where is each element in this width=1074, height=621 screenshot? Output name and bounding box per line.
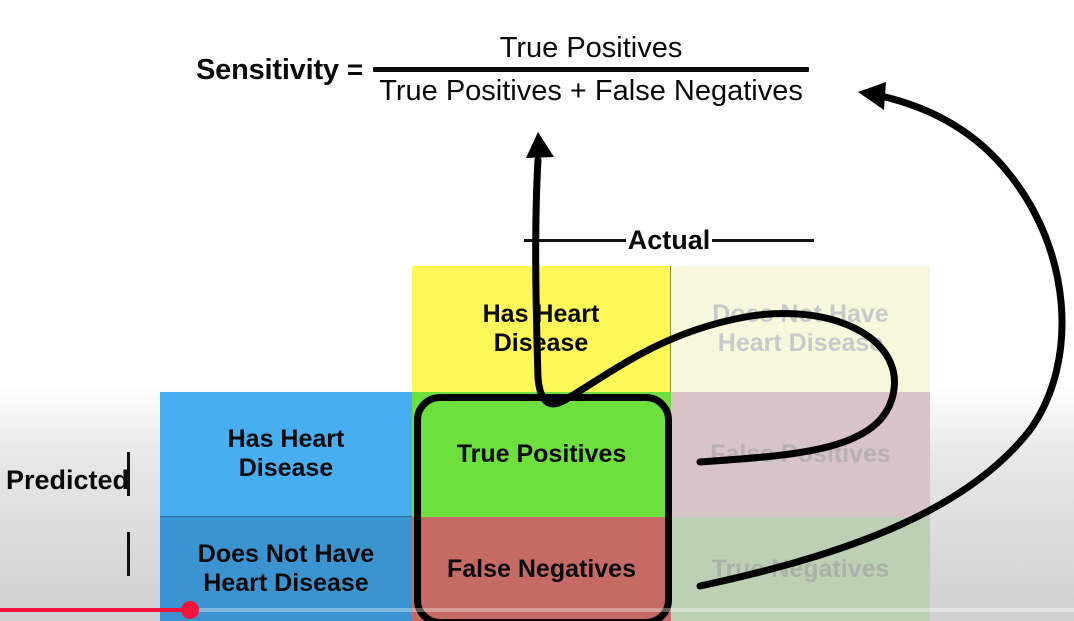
formula-fraction: True Positives True Positives + False Ne… [373, 32, 809, 108]
column-header-1-text: Does Not HaveHeart Disease [712, 300, 888, 358]
formula-left-term: Sensitivity [196, 54, 339, 87]
arrow-to-denominator-head [858, 82, 886, 110]
row-header-has-heart-disease: Has HeartDisease [160, 392, 412, 517]
cell-false-negatives-label: False Negatives [447, 555, 636, 584]
actual-axis-label: Actual [626, 225, 713, 256]
row-header-0-text: Has HeartDisease [228, 425, 345, 483]
sensitivity-formula: Sensitivity = True Positives True Positi… [196, 32, 809, 108]
cell-false-negatives: False Negatives [412, 517, 671, 621]
actual-rule-left [524, 239, 626, 242]
arrow-to-numerator-head [526, 132, 554, 158]
actual-axis-header: Actual [524, 222, 814, 258]
cell-true-negatives: True Negatives [671, 517, 930, 621]
predicted-tick-bottom [127, 532, 130, 576]
video-frame: Sensitivity = True Positives True Positi… [0, 0, 1074, 621]
column-header-does-not-have-heart-disease: Does Not HaveHeart Disease [671, 266, 930, 392]
formula-equals-sign: = [347, 54, 363, 86]
cell-false-positives-label: False Positives [710, 440, 891, 469]
cell-true-negatives-label: True Negatives [712, 555, 890, 584]
actual-rule-right [712, 239, 814, 242]
cell-true-positives-label: True Positives [457, 440, 627, 469]
predicted-tick-top [127, 452, 130, 496]
predicted-axis-label: Predicted [0, 465, 129, 496]
row-header-1-text: Does Not HaveHeart Disease [198, 540, 374, 598]
formula-numerator: True Positives [486, 32, 697, 67]
column-header-0-text: Has HeartDisease [483, 300, 600, 358]
video-scrubber-progress[interactable] [0, 608, 190, 612]
formula-denominator: True Positives + False Negatives [373, 72, 809, 108]
video-scrubber-handle[interactable] [181, 601, 199, 619]
cell-true-positives: True Positives [412, 392, 671, 517]
column-header-has-heart-disease: Has HeartDisease [412, 266, 671, 392]
cell-false-positives: False Positives [671, 392, 930, 517]
